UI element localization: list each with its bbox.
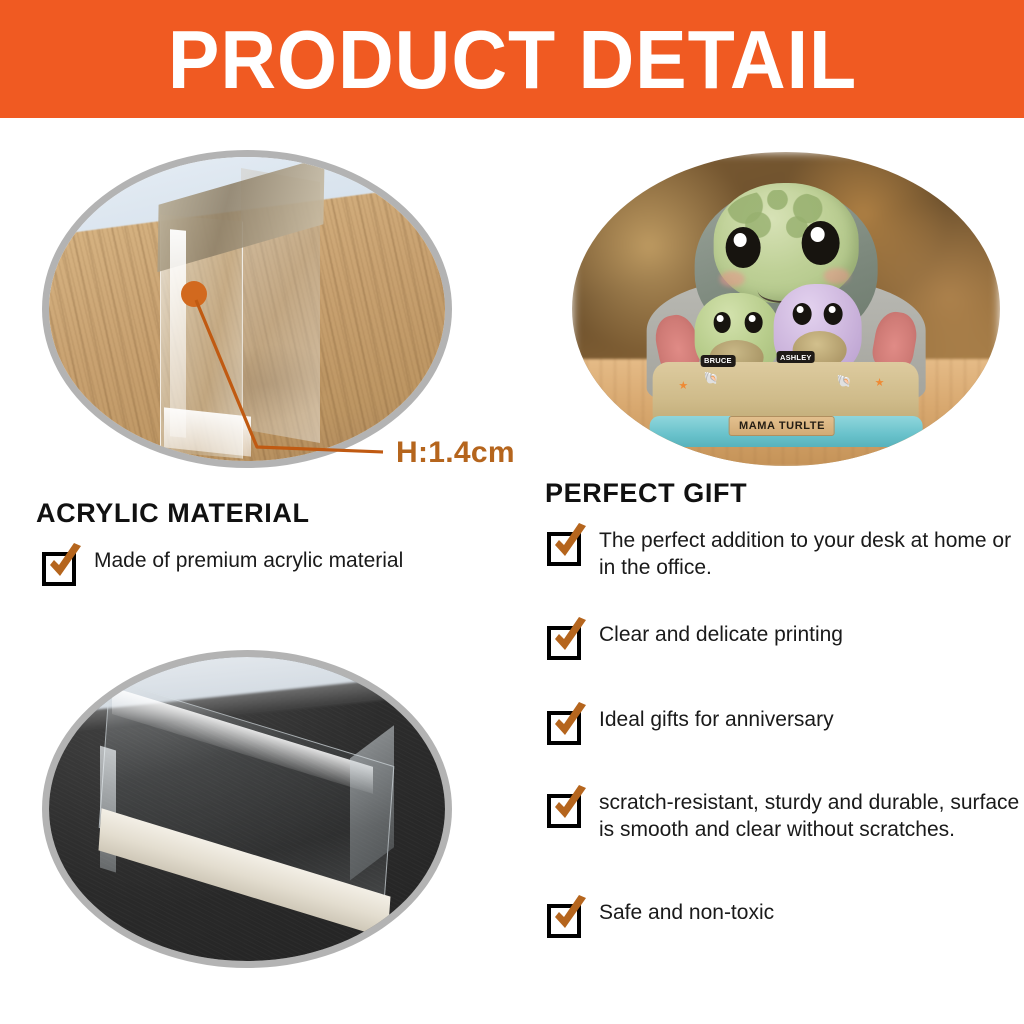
checkbox-checked-icon <box>547 622 585 660</box>
page-title: PRODUCT DETAIL <box>167 18 856 101</box>
checkmark-icon <box>546 700 592 746</box>
mama-turtle-eye-right <box>802 221 840 265</box>
acrylic-edge-scene <box>49 157 445 461</box>
feature-text: Safe and non-toxic <box>599 900 774 927</box>
nameplate-plaque: MAMA TURLTE <box>729 416 835 436</box>
product-detail-page: PRODUCT DETAIL <box>0 0 1024 1024</box>
checkbox-checked-icon <box>547 707 585 745</box>
feature-item: Ideal gifts for anniversary <box>547 707 834 745</box>
feature-text: Clear and delicate printing <box>599 622 843 649</box>
starfish-icon: ★ <box>875 378 885 389</box>
feature-item: Clear and delicate printing <box>547 622 843 660</box>
feature-item: The perfect addition to your desk at hom… <box>547 528 1024 582</box>
turtle-figurine-photo: ★ ★ ★ 🐚 🐚 🐚 BRUCE ASHLEY MAMA TURLTE <box>572 152 1000 466</box>
feature-text: Made of premium acrylic material <box>94 548 403 575</box>
feature-item: scratch-resistant, sturdy and durable, s… <box>547 790 1024 844</box>
seashell-icon: 🐚 <box>704 372 719 384</box>
mama-turtle-eye-left <box>726 227 761 268</box>
baby-turtle-green-eye-right <box>745 312 762 332</box>
baby-turtle-purple-eye-left <box>792 303 811 325</box>
acrylic-highlight <box>170 229 186 437</box>
checkbox-checked-icon <box>547 528 585 566</box>
nametag-baby-purple: ASHLEY <box>776 351 815 363</box>
section-title-acrylic-material: ACRYLIC MATERIAL <box>36 498 310 529</box>
checkbox-checked-icon <box>547 790 585 828</box>
baby-turtle-purple-eye-right <box>824 303 843 325</box>
checkbox-checked-icon <box>42 548 80 586</box>
nametag-baby-green: BRUCE <box>700 355 735 367</box>
checkmark-icon <box>546 783 592 829</box>
seashell-icon: 🐚 <box>837 375 852 387</box>
starfish-icon: ★ <box>678 381 688 392</box>
checkmark-icon <box>546 521 592 567</box>
feature-item: Safe and non-toxic <box>547 900 774 938</box>
acrylic-edge-photo <box>42 150 452 468</box>
checkmark-icon <box>546 615 592 661</box>
section-title-perfect-gift: PERFECT GIFT <box>545 478 747 509</box>
dimension-label: H:1.4cm <box>396 436 515 470</box>
checkmark-icon <box>546 893 592 939</box>
turtle-figurine: ★ ★ ★ 🐚 🐚 🐚 BRUCE ASHLEY MAMA TURLTE <box>628 152 945 466</box>
baby-turtle-green-eye-left <box>713 312 730 332</box>
checkmark-icon <box>41 541 87 587</box>
mama-turtle-cheek-right <box>824 268 849 284</box>
feature-text: Ideal gifts for anniversary <box>599 707 834 734</box>
feature-item: Made of premium acrylic material <box>42 548 403 586</box>
mama-turtle-cheek-left <box>719 271 744 287</box>
acrylic-block-photo <box>42 650 452 968</box>
feature-text: The perfect addition to your desk at hom… <box>599 528 1024 582</box>
header-banner: PRODUCT DETAIL <box>0 0 1024 118</box>
checkbox-checked-icon <box>547 900 585 938</box>
feature-text: scratch-resistant, sturdy and durable, s… <box>599 790 1024 844</box>
